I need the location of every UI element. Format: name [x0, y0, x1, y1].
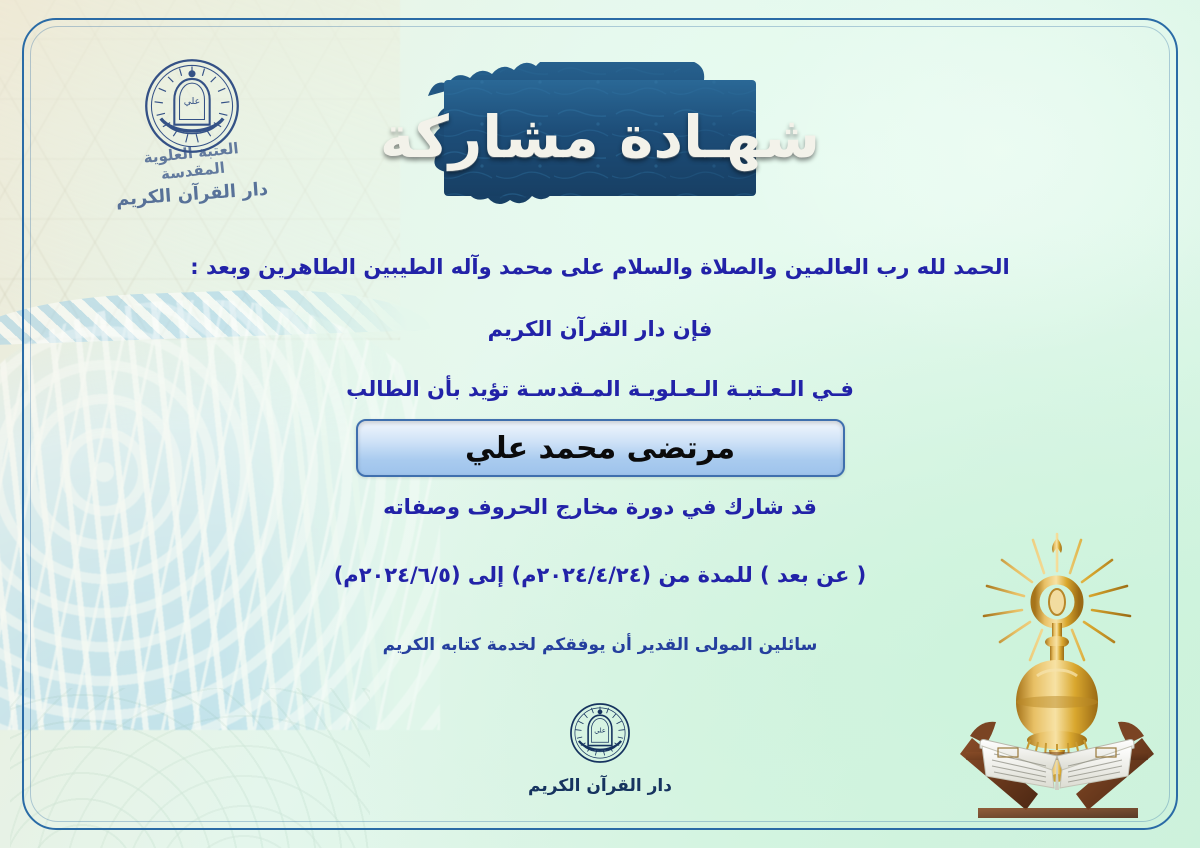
attestation-line: فـي الـعـتبـة الـعـلويـة المـقدسـة تؤيد …	[0, 377, 1200, 401]
title-banner: شهـادة مشاركة	[380, 62, 820, 212]
issuer-line: فإن دار القرآن الكريم	[0, 317, 1200, 341]
recipient-name-box: مرتضى محمد علي	[356, 419, 845, 477]
page-title: شهـادة مشاركة	[380, 103, 820, 171]
recipient-name: مرتضى محمد علي	[465, 431, 735, 466]
quran-on-rehal-icon	[942, 526, 1172, 826]
svg-text:علي: علي	[594, 726, 606, 734]
organization-emblem-top: علي العتبة العلوية المقدسة دار القرآن ال…	[112, 52, 272, 232]
svg-text:علي: علي	[184, 96, 200, 107]
course-line: قد شارك في دورة مخارج الحروف وصفاته	[0, 495, 1200, 519]
certificate-page: علي العتبة العلوية المقدسة دار القرآن ال…	[0, 0, 1200, 848]
shrine-seal-icon: علي	[567, 700, 633, 766]
praise-line: الحمد لله رب العالمين والصلاة والسلام عل…	[0, 255, 1200, 279]
